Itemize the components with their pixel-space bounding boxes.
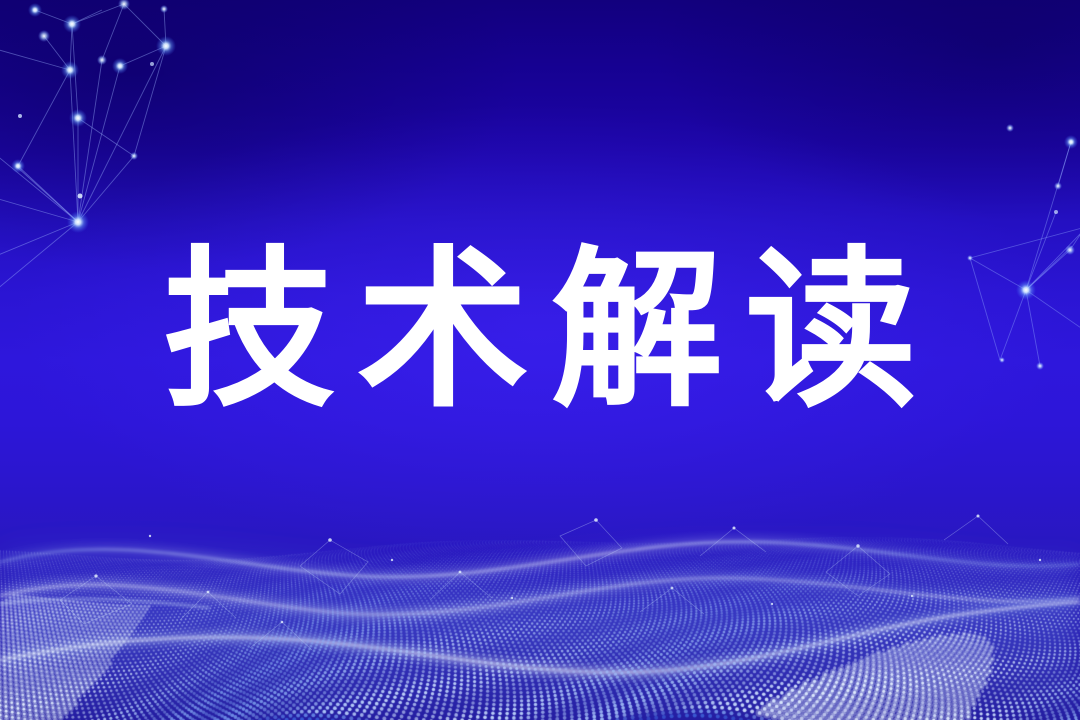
banner-canvas: 技术解读: [0, 0, 1080, 720]
wave-haze: [0, 529, 1080, 720]
headline-block: 技术解读: [0, 243, 1080, 418]
headline-text: 技术解读: [141, 243, 939, 418]
